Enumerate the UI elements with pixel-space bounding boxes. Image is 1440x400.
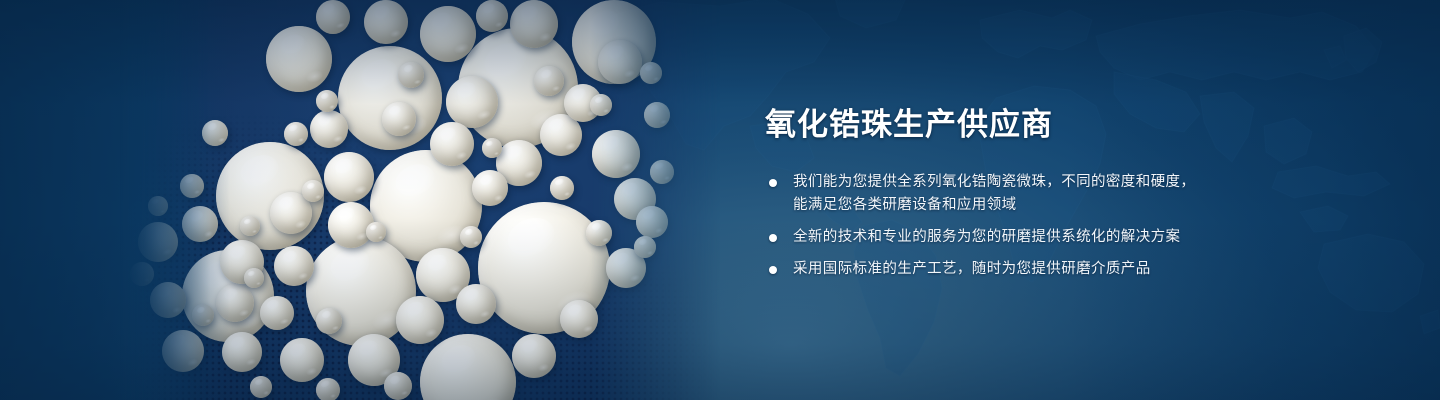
list-item: 全新的技术和专业的服务为您的研磨提供系统化的解决方案: [765, 226, 1365, 249]
list-item-line: 全新的技术和专业的服务为您的研磨提供系统化的解决方案: [793, 226, 1365, 249]
banner-copy: 氧化锆珠生产供应商 我们能为您提供全系列氧化锆陶瓷微珠，不同的密度和硬度， 能满…: [765, 106, 1365, 281]
feature-list: 我们能为您提供全系列氧化锆陶瓷微珠，不同的密度和硬度， 能满足您各类研磨设备和应…: [765, 171, 1365, 281]
bullet-dot-icon: [769, 179, 777, 187]
bullet-dot-icon: [769, 266, 777, 274]
list-item-line: 我们能为您提供全系列氧化锆陶瓷微珠，不同的密度和硬度，: [793, 171, 1365, 194]
list-item-line: 采用国际标准的生产工艺，随时为您提供研磨介质产品: [793, 258, 1365, 281]
hero-banner: 氧化锆珠生产供应商 我们能为您提供全系列氧化锆陶瓷微珠，不同的密度和硬度， 能满…: [0, 0, 1440, 400]
list-item-line: 能满足您各类研磨设备和应用领域: [793, 194, 1365, 217]
list-item: 采用国际标准的生产工艺，随时为您提供研磨介质产品: [765, 258, 1365, 281]
bullet-dot-icon: [769, 234, 777, 242]
list-item: 我们能为您提供全系列氧化锆陶瓷微珠，不同的密度和硬度， 能满足您各类研磨设备和应…: [765, 171, 1365, 217]
page-title: 氧化锆珠生产供应商: [765, 106, 1365, 145]
